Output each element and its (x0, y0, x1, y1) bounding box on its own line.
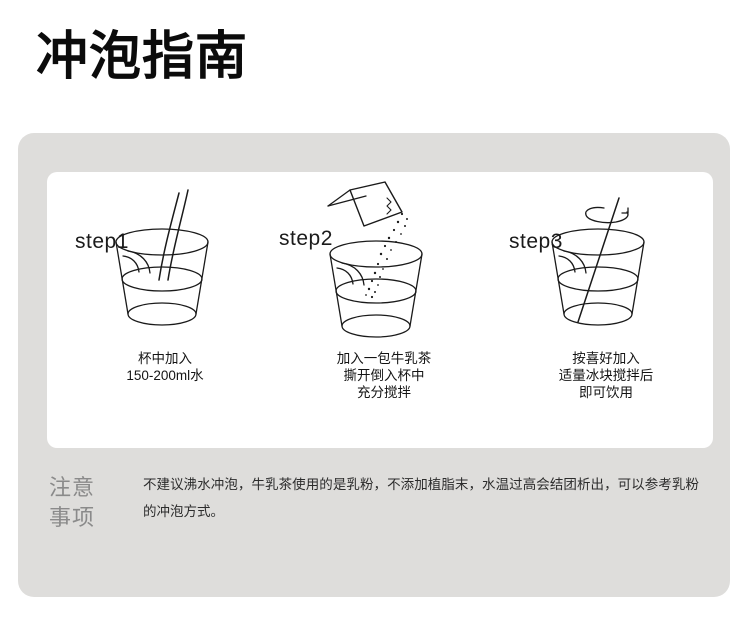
steps-row: step1 (47, 172, 713, 448)
step-item-1: step1 (47, 172, 269, 448)
cup-with-stirring-stick-icon (512, 180, 712, 350)
step-item-2: step2 (269, 172, 491, 448)
step-1-caption: 杯中加入 150-200ml水 (61, 350, 269, 384)
step-2-caption: 加入一包牛乳茶 撕开倒入杯中 充分搅拌 (277, 350, 491, 401)
notice-section: 注意 事项 不建议沸水冲泡，牛乳茶使用的是乳粉，不添加植脂末，水温过高会结团析出… (49, 471, 699, 533)
steps-card: step1 (47, 172, 713, 448)
brewing-guide-panel: step1 (18, 133, 730, 597)
step-item-3: step3 (491, 172, 713, 448)
page-title: 冲泡指南 (36, 28, 248, 88)
notice-label: 注意 事项 (49, 471, 127, 533)
step-3-caption: 按喜好加入 适量冰块搅拌后 即可饮用 (499, 350, 713, 401)
cup-with-water-pour-icon (76, 180, 276, 350)
sachet-pouring-powder-into-cup-icon (290, 180, 490, 350)
notice-body-text: 不建议沸水冲泡，牛乳茶使用的是乳粉，不添加植脂末，水温过高会结团析出，可以参考乳… (127, 471, 699, 525)
